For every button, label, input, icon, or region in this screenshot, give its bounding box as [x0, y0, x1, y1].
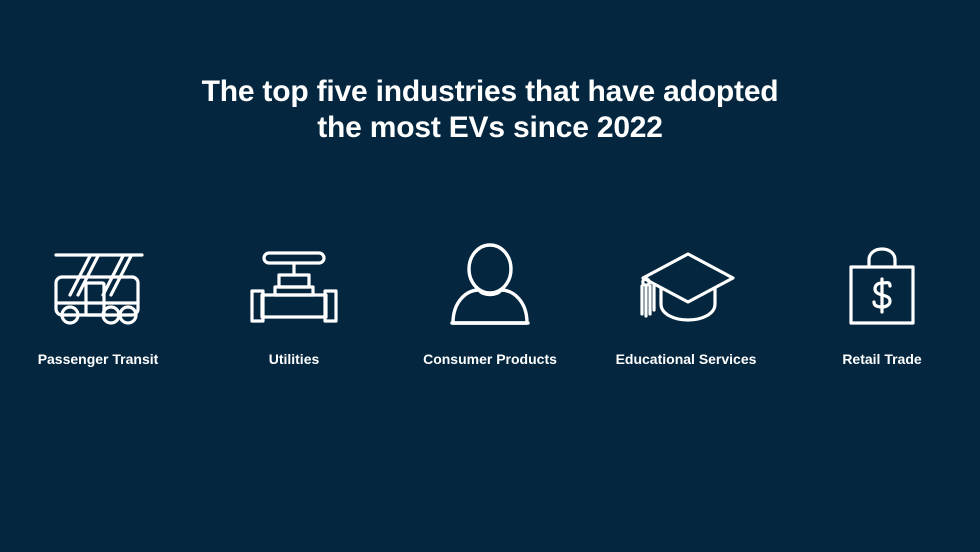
page-title: The top five industries that have adopte… [0, 74, 980, 146]
industry-card-consumer-products[interactable]: Consumer Products [392, 240, 588, 368]
trolley-bus-icon [43, 240, 153, 332]
industry-card-row: Passenger Transit [0, 240, 980, 400]
industry-label: Utilities [269, 350, 320, 368]
industry-label: Consumer Products [423, 350, 557, 368]
pipeline-valve-icon [239, 240, 349, 332]
industry-label: Educational Services [616, 350, 757, 368]
graduation-cap-icon [631, 240, 741, 332]
industry-card-passenger-transit[interactable]: Passenger Transit [0, 240, 196, 368]
shopping-bag-dollar-icon [827, 240, 937, 332]
industry-label: Passenger Transit [38, 350, 159, 368]
industry-card-retail-trade[interactable]: Retail Trade [784, 240, 980, 368]
person-icon [435, 240, 545, 332]
slide-canvas: The top five industries that have adopte… [0, 0, 980, 552]
industry-label: Retail Trade [842, 350, 921, 368]
industry-card-utilities[interactable]: Utilities [196, 240, 392, 368]
industry-card-educational-services[interactable]: Educational Services [588, 240, 784, 368]
